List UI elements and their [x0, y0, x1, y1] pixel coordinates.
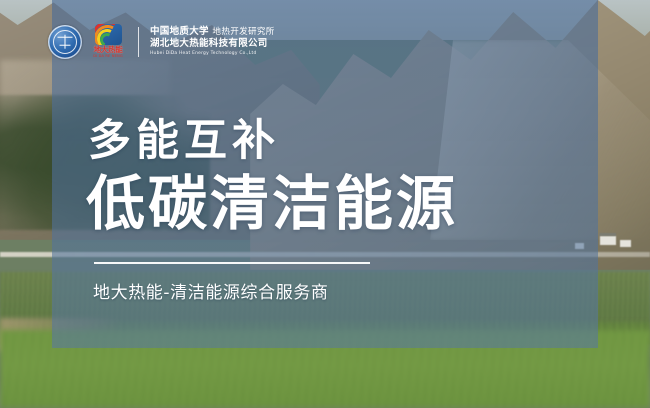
company-name-cn: 湖北地大热能科技有限公司: [150, 38, 275, 50]
brand-header: 地大热能 DI DA RE NENG 中国地质大学 地热开发研究所 湖北地大热能…: [48, 24, 275, 59]
institute-main: 中国地质大学: [150, 26, 209, 37]
institute-sub: 地热开发研究所: [212, 27, 274, 37]
seal-emblem-mark: [58, 34, 73, 48]
headline-line-1: 多能互补: [88, 118, 280, 164]
photo-building-roof: [599, 233, 616, 236]
promo-banner: 地大热能 DI DA RE NENG 中国地质大学 地热开发研究所 湖北地大热能…: [0, 0, 650, 408]
photo-building: [620, 240, 631, 247]
headline-subtitle: 地大热能-清洁能源综合服务商: [93, 281, 329, 305]
headline-divider-rule: [94, 262, 370, 264]
brand-name-pinyin: DI DA RE NENG: [91, 54, 125, 59]
company-name-en: Hubei DiDa Heat Energy Technology Co.,Lt…: [150, 50, 275, 58]
brand-name-cn: 地大热能: [91, 46, 125, 54]
institute-line: 中国地质大学 地热开发研究所: [150, 26, 275, 38]
company-logo: 地大热能 DI DA RE NENG: [91, 24, 125, 59]
corporate-text-block: 中国地质大学 地热开发研究所 湖北地大热能科技有限公司 Hubei DiDa H…: [150, 26, 275, 58]
rainbow-tile-logo-icon: [95, 24, 122, 45]
headline-line-2: 低碳清洁能源: [86, 172, 458, 236]
university-seal-icon: [48, 25, 82, 59]
vertical-divider: [138, 27, 139, 57]
photo-building: [600, 236, 616, 245]
